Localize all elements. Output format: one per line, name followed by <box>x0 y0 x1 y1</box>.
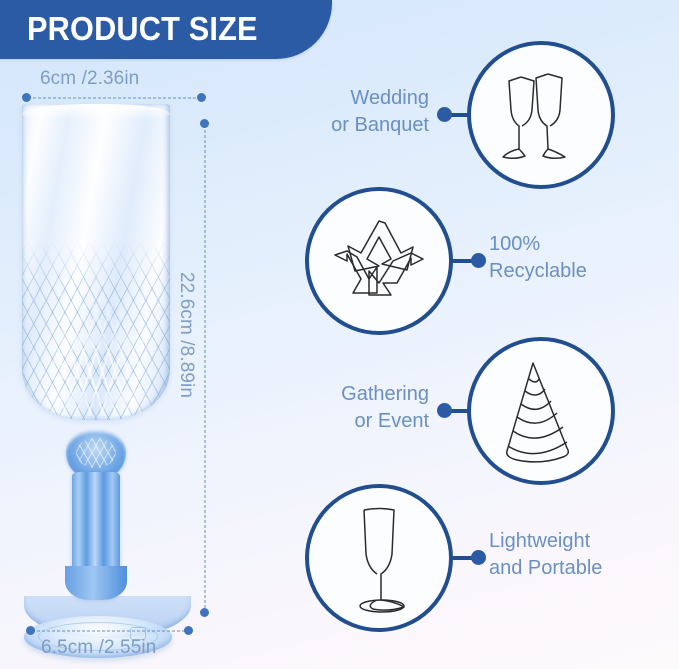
dimension-top-left-dot <box>22 93 31 102</box>
feature-icon-circle <box>305 187 453 335</box>
dimension-height-top-dot <box>200 119 209 128</box>
party-hat-icon <box>495 357 587 465</box>
dimension-height-label: 22.6cm /8.89in <box>175 272 197 398</box>
toasting-champagne-glasses-icon <box>491 63 591 167</box>
dimension-height-line <box>204 124 206 612</box>
feature-connector-dot <box>471 253 486 268</box>
infographic-canvas: PRODUCT SIZE 6cm /2.36in 22.6cm /8.89in … <box>0 0 679 669</box>
feature-label-line2: Recyclable <box>489 258 587 285</box>
dimension-base-left-dot <box>26 626 35 635</box>
feature-label: 100% Recyclable <box>489 231 587 285</box>
crystal-cut-highlight <box>40 296 152 416</box>
feature-connector-dot <box>437 107 452 122</box>
glass-bowl <box>22 104 170 420</box>
feature-icon-circle <box>467 337 615 485</box>
feature-label-line2: and Portable <box>489 555 602 582</box>
feature-icon-circle <box>467 41 615 189</box>
dimension-top-line <box>27 97 202 99</box>
recycle-icon <box>327 209 431 313</box>
feature-connector-dot <box>471 550 486 565</box>
glass-knop <box>66 430 126 478</box>
dimension-base-line <box>31 630 189 632</box>
dimension-base-right-dot <box>184 626 193 635</box>
feature-label: Lightweight and Portable <box>489 528 602 582</box>
single-champagne-glass-icon <box>340 502 418 614</box>
dimension-base-width-label: 6.5cm /2.55in <box>41 637 156 659</box>
feature-label-line1: Lightweight <box>489 528 602 555</box>
header-banner: PRODUCT SIZE <box>0 0 332 59</box>
feature-icon-circle <box>305 484 453 632</box>
feature-label-line1: Wedding <box>276 85 429 112</box>
feature-label-line1: 100% <box>489 231 587 258</box>
page-title: PRODUCT SIZE <box>27 9 258 49</box>
feature-label-line1: Gathering <box>276 381 429 408</box>
feature-label-line2: or Banquet <box>276 112 429 139</box>
feature-connector-dot <box>437 403 452 418</box>
feature-label-line2: or Event <box>276 408 429 435</box>
glass-stem <box>72 472 120 598</box>
feature-label: Gathering or Event <box>276 381 429 435</box>
dimension-height-bottom-dot <box>200 608 209 617</box>
dimension-top-right-dot <box>197 93 206 102</box>
feature-label: Wedding or Banquet <box>276 85 429 139</box>
dimension-top-width-label: 6cm /2.36in <box>40 68 139 90</box>
